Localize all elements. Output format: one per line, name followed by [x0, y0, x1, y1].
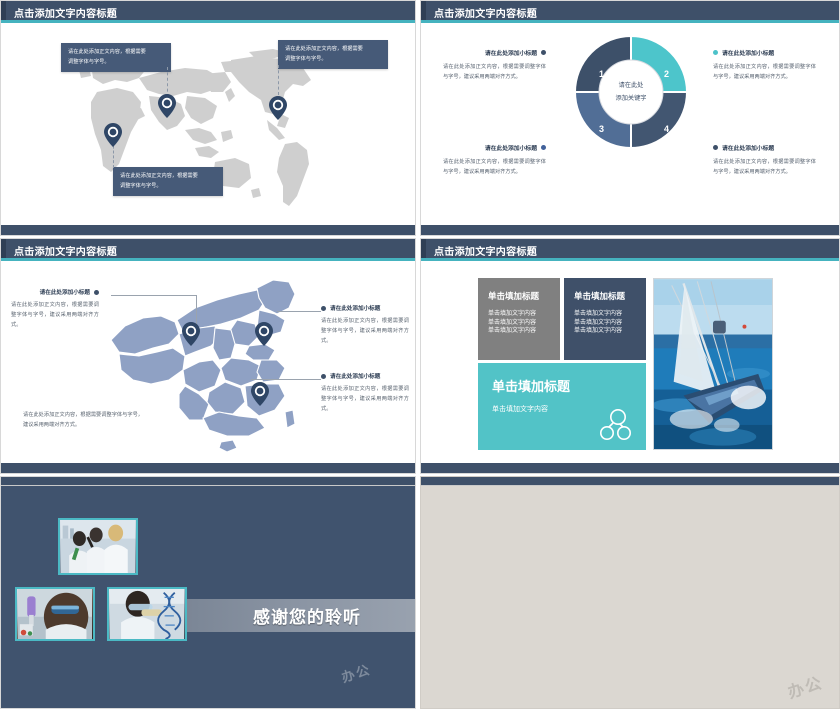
donut-label-4: 4: [664, 124, 669, 134]
slide-china-map[interactable]: 点击添加文字内容标题: [0, 238, 416, 474]
header-accent-bar: [421, 239, 426, 258]
blank-top-bar: [421, 477, 839, 486]
slide-world-map[interactable]: 点击添加文字内容标题: [0, 0, 416, 236]
china-item-body: 请在此处添加正文内容，根据需要调整字体与字号，建议采用两端对齐方式。: [321, 384, 409, 414]
map-pin-icon[interactable]: [251, 382, 269, 406]
sailboat-illustration: [654, 279, 772, 449]
header-accent-bar: [421, 1, 426, 20]
china-item-heading-row: 请在此处添加小标题: [321, 304, 409, 312]
donut-item-3[interactable]: 请在此处添加小标题 请在此处添加正文内容，根据需要调整字体与字号，建议采用两端对…: [443, 143, 546, 178]
block-gray[interactable]: 单击填加标题 单击填加文字内容 单击填加文字内容 单击填加文字内容: [478, 278, 560, 360]
map-pin-icon[interactable]: [182, 322, 200, 346]
block-navy-line-1: 单击填加文字内容: [574, 310, 636, 319]
slide-title: 点击添加文字内容标题: [14, 5, 117, 20]
donut-item-1[interactable]: 请在此处添加小标题 请在此处添加正文内容，根据需要调整字体与字号，建议采用两端对…: [443, 48, 546, 83]
china-item-1[interactable]: 请在此处添加小标题 请在此处添加正文内容，根据需要调整字体与字号，建议采用两端对…: [11, 288, 99, 330]
china-leader-3: [251, 379, 321, 380]
lab-pipette-illustration: [17, 589, 93, 639]
block-navy-line-3: 单击填加文字内容: [574, 327, 636, 336]
bullet-dot-icon: [541, 50, 546, 55]
block-gray-line-2: 单击填加文字内容: [488, 319, 550, 328]
network-share-icon: [598, 408, 632, 442]
donut-item-4[interactable]: 请在此处添加小标题 请在此处添加正文内容，根据需要调整字体与字号，建议采用两端对…: [713, 143, 816, 178]
thank-you-banner: 感谢您的聆听: [187, 599, 416, 632]
donut-item-heading-row: 请在此处添加小标题: [443, 143, 546, 152]
china-item-2[interactable]: 请在此处添加小标题 请在此处添加正文内容，根据需要调整字体与字号，建议采用两端对…: [321, 304, 409, 346]
callout-line-2: 调整字体与字号。: [120, 182, 216, 192]
china-item-body: 请在此处添加正文内容，根据需要调整字体与字号，建议采用两端对齐方式。: [11, 300, 99, 330]
donut-item-heading: 请在此处添加小标题: [485, 143, 537, 152]
bullet-dot-icon: [713, 50, 718, 55]
donut-chart-icon: [571, 32, 691, 152]
callout-box-asia[interactable]: 请在此处添加正文内容，根据需要 调整字体与字号。: [61, 43, 171, 72]
china-leader-2: [277, 311, 321, 312]
slide-title: 点击添加文字内容标题: [434, 5, 537, 20]
slide-title: 点击添加文字内容标题: [434, 243, 537, 258]
map-pin-icon[interactable]: [269, 96, 287, 120]
block-navy-line-2: 单击填加文字内容: [574, 319, 636, 328]
block-gray-line-1: 单击填加文字内容: [488, 310, 550, 319]
china-item-heading: 请在此处添加小标题: [330, 304, 380, 312]
china-item-heading: 请在此处添加小标题: [330, 372, 380, 380]
slide-footer: [421, 225, 839, 235]
china-item-3[interactable]: 请在此处添加小标题 请在此处添加正文内容，根据需要调整字体与字号，建议采用两端对…: [321, 372, 409, 414]
watermark: 办公: [339, 659, 373, 686]
callout-line-2: 调整字体与字号。: [285, 55, 381, 65]
donut-item-heading-row: 请在此处添加小标题: [443, 48, 546, 57]
bullet-dot-icon: [321, 374, 326, 379]
callout-box-america[interactable]: 请在此处添加正文内容，根据需要 调整字体与字号。: [278, 40, 388, 69]
callout-line-1: 请在此处添加正文内容，根据需要: [285, 45, 381, 55]
donut-item-body: 请在此处添加正文内容，根据需要调整字体与字号，建议采用两端对齐方式。: [443, 157, 546, 178]
block-navy[interactable]: 单击填加标题 单击填加文字内容 单击填加文字内容 单击填加文字内容: [564, 278, 646, 360]
sailboat-photo: [653, 278, 773, 450]
lab-team-photo: [58, 518, 138, 575]
thanks-top-bar: [1, 477, 415, 486]
callout-box-africa[interactable]: 请在此处添加正文内容，根据需要 调整字体与字号。: [113, 167, 223, 196]
donut-item-heading: 请在此处添加小标题: [722, 143, 774, 152]
donut-item-body: 请在此处添加正文内容，根据需要调整字体与字号，建议采用两端对齐方式。: [713, 62, 816, 83]
lab-dna-illustration: [109, 589, 185, 639]
block-teal[interactable]: 单击填加标题 单击填加文字内容: [478, 363, 646, 450]
slide-thank-you[interactable]: 感谢您的聆听 办公: [0, 476, 416, 709]
block-gray-heading: 单击填加标题: [488, 290, 550, 302]
slide-grid: 点击添加文字内容标题: [0, 0, 840, 709]
callout-leader-asia: [167, 67, 168, 97]
callout-leader-america: [278, 65, 279, 95]
lab-pipette-photo: [15, 587, 95, 641]
slide-footer: [1, 225, 415, 235]
world-map-area: 请在此处添加正文内容，根据需要 调整字体与字号。 请在此处添加正文内容，根据需要…: [1, 26, 415, 225]
map-pin-icon[interactable]: [104, 123, 122, 147]
donut-label-3: 3: [599, 124, 604, 134]
bullet-dot-icon: [94, 290, 99, 295]
china-item-heading: 请在此处添加小标题: [40, 288, 90, 296]
slide-blank[interactable]: 办公: [420, 476, 840, 709]
donut-item-heading: 请在此处添加小标题: [722, 48, 774, 57]
donut-item-heading-row: 请在此处添加小标题: [713, 143, 816, 152]
china-leader-1: [111, 295, 197, 296]
lab-team-illustration: [60, 520, 136, 573]
donut-label-2: 2: [664, 69, 669, 79]
donut-item-2[interactable]: 请在此处添加小标题 请在此处添加正文内容，根据需要调整字体与字号，建议采用两端对…: [713, 48, 816, 83]
lab-dna-photo: [107, 587, 187, 641]
watermark: 办公: [784, 669, 826, 703]
map-pin-icon[interactable]: [255, 322, 273, 346]
header-accent-bar: [1, 1, 6, 20]
block-gray-line-3: 单击填加文字内容: [488, 327, 550, 336]
donut-item-body: 请在此处添加正文内容，根据需要调整字体与字号，建议采用两端对齐方式。: [713, 157, 816, 178]
map-pin-icon[interactable]: [158, 94, 176, 118]
slide-footer: [421, 463, 839, 473]
block-teal-heading: 单击填加标题: [492, 376, 632, 395]
slide-content-blocks[interactable]: 点击添加文字内容标题 单击填加标题 单击填加文字内容 单击填加文字内容 单击填加…: [420, 238, 840, 474]
donut-item-heading-row: 请在此处添加小标题: [713, 48, 816, 57]
bullet-dot-icon: [541, 145, 546, 150]
slide-title: 点击添加文字内容标题: [14, 243, 117, 258]
block-navy-heading: 单击填加标题: [574, 290, 636, 302]
donut-area: 1 2 3 4 请在此处 添加关键字 请在此处添加小标题 请在此处添加正文内容，…: [421, 26, 839, 225]
callout-line-2: 调整字体与字号。: [68, 58, 164, 68]
bullet-dot-icon: [321, 306, 326, 311]
callout-line-1: 请在此处添加正文内容，根据需要: [68, 48, 164, 58]
donut-item-heading: 请在此处添加小标题: [485, 48, 537, 57]
china-free-text: 请在此处添加正文内容，根据需要调整字体与字号，建议采用两端对齐方式。: [23, 410, 143, 431]
china-item-body: 请在此处添加正文内容，根据需要调整字体与字号，建议采用两端对齐方式。: [321, 316, 409, 346]
header-accent-bar: [1, 239, 6, 258]
china-item-heading-row: 请在此处添加小标题: [321, 372, 409, 380]
callout-line-1: 请在此处添加正文内容，根据需要: [120, 172, 216, 182]
donut-label-1: 1: [599, 69, 604, 79]
slide-footer: [1, 463, 415, 473]
thank-you-text: 感谢您的聆听: [253, 603, 361, 628]
slide-donut-diagram[interactable]: 点击添加文字内容标题 1 2 3 4: [420, 0, 840, 236]
china-item-heading-row: 请在此处添加小标题: [11, 288, 99, 296]
bullet-dot-icon: [713, 145, 718, 150]
donut-item-body: 请在此处添加正文内容，根据需要调整字体与字号，建议采用两端对齐方式。: [443, 62, 546, 83]
